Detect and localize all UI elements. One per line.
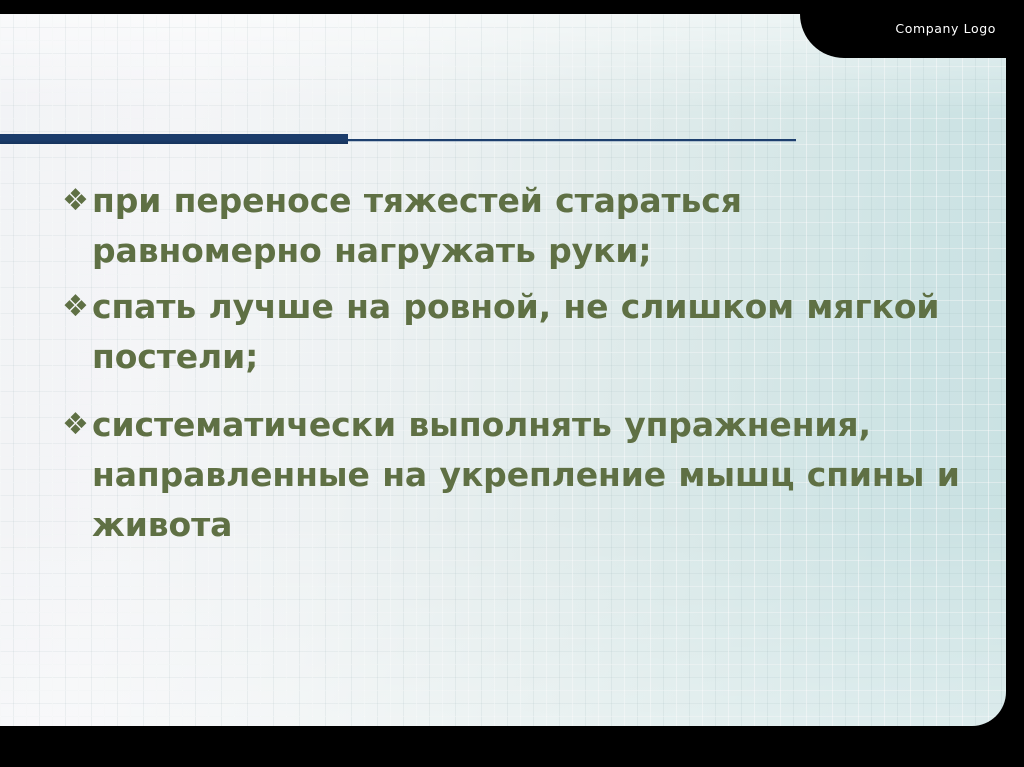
frame-bottom-band <box>0 726 1024 767</box>
diamond-bullet-icon: ❖ <box>62 176 92 226</box>
list-item: ❖ систематически выполнять упражнения, н… <box>62 400 962 550</box>
list-item-text: систематически выполнять упражнения, нап… <box>92 400 962 550</box>
diamond-bullet-icon: ❖ <box>62 400 92 450</box>
frame-right-band <box>1006 0 1024 767</box>
list-item-text: спать лучше на ровной, не слишком мягкой… <box>92 282 962 382</box>
divider-accent-bar <box>0 134 348 144</box>
frame-top-band <box>0 0 1024 14</box>
bullet-list: ❖ при переносе тяжестей стараться равном… <box>62 176 962 556</box>
company-logo-label: Company Logo <box>895 21 996 36</box>
list-item-text: при переносе тяжестей стараться равномер… <box>92 176 962 276</box>
slide-content-panel: ❖ при переносе тяжестей стараться равном… <box>0 14 1006 726</box>
diamond-bullet-icon: ❖ <box>62 282 92 332</box>
list-item: ❖ спать лучше на ровной, не слишком мягк… <box>62 282 962 382</box>
presentation-slide: ❖ при переносе тяжестей стараться равном… <box>0 0 1024 767</box>
header-divider <box>0 134 796 146</box>
list-item: ❖ при переносе тяжестей стараться равном… <box>62 176 962 276</box>
